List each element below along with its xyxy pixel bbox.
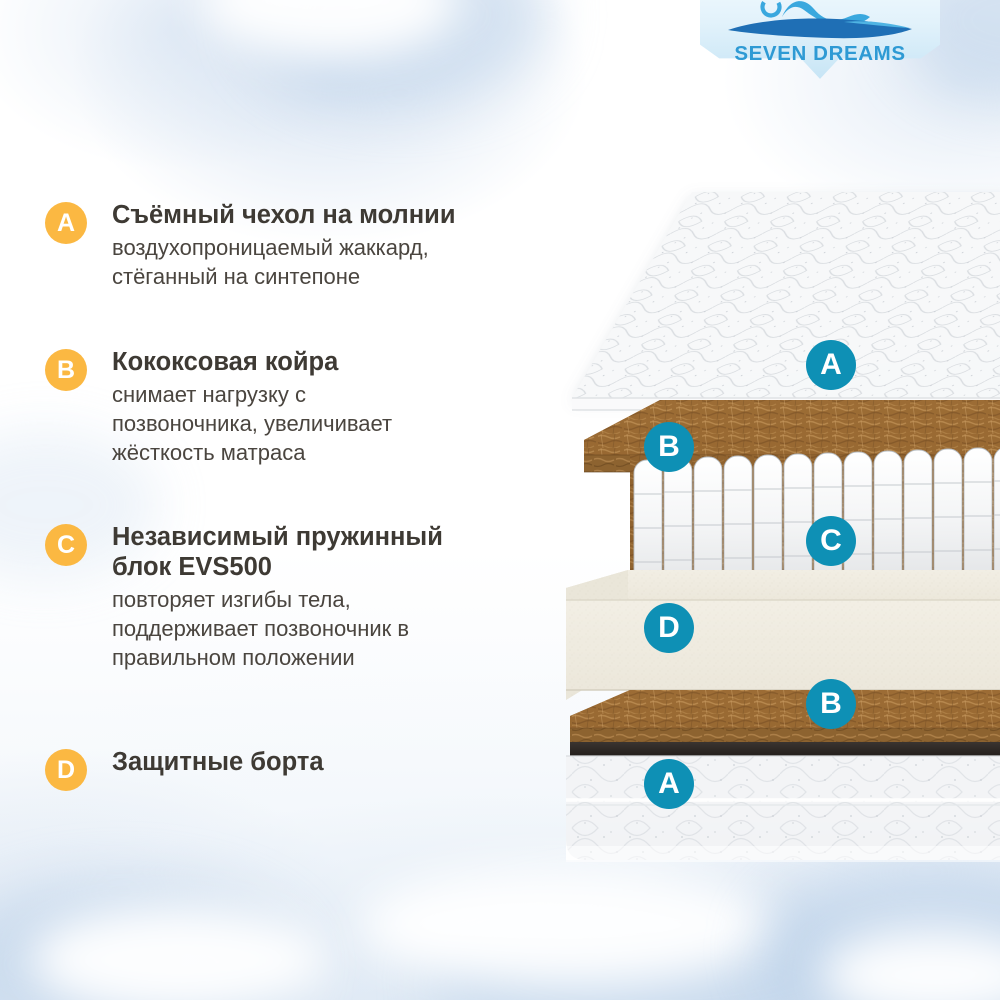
feature-item-d[interactable]: D Защитные борта [45, 747, 324, 791]
feature-badge-d: D [45, 749, 87, 791]
feature-title-c: Независимый пружинный блок EVS500 [112, 522, 443, 582]
feature-badge-a: A [45, 202, 87, 244]
feature-item-c[interactable]: C Независимый пружинный блок EVS500 повт… [45, 522, 443, 672]
mattress-badge-protective-border[interactable]: D [644, 603, 694, 653]
wave-swimmer-icon [724, 0, 916, 42]
mattress-badge-spring-block[interactable]: C [806, 516, 856, 566]
feature-item-a[interactable]: A Съёмный чехол на молнии воздухопроница… [45, 200, 456, 291]
feature-title-b: Кококсовая койра [112, 347, 392, 377]
feature-badge-b: B [45, 349, 87, 391]
mattress-badge-bottom-cover[interactable]: A [644, 759, 694, 809]
feature-title-a: Съёмный чехол на молнии [112, 200, 456, 230]
feature-desc-a: воздухопроницаемый жаккард, стёганный на… [112, 233, 456, 291]
mattress-badge-coir-lower[interactable]: B [806, 679, 856, 729]
feature-item-b[interactable]: B Кококсовая койра снимает нагрузку с по… [45, 347, 392, 467]
feature-desc-b: снимает нагрузку с позвоночника, увеличи… [112, 380, 392, 467]
infographic-canvas: SEVEN DREAMS A Съёмный чехол на молнии в… [0, 0, 1000, 1000]
sky-background [0, 0, 1000, 1000]
mattress-badge-top-cover[interactable]: A [806, 340, 856, 390]
mattress-badge-coir-upper[interactable]: B [644, 422, 694, 472]
feature-badge-c: C [45, 524, 87, 566]
brand-logo[interactable]: SEVEN DREAMS [700, 0, 940, 88]
brand-name: SEVEN DREAMS [700, 42, 940, 66]
feature-title-d: Защитные борта [112, 747, 324, 777]
feature-desc-c: повторяет изгибы тела, поддерживает позв… [112, 585, 443, 672]
